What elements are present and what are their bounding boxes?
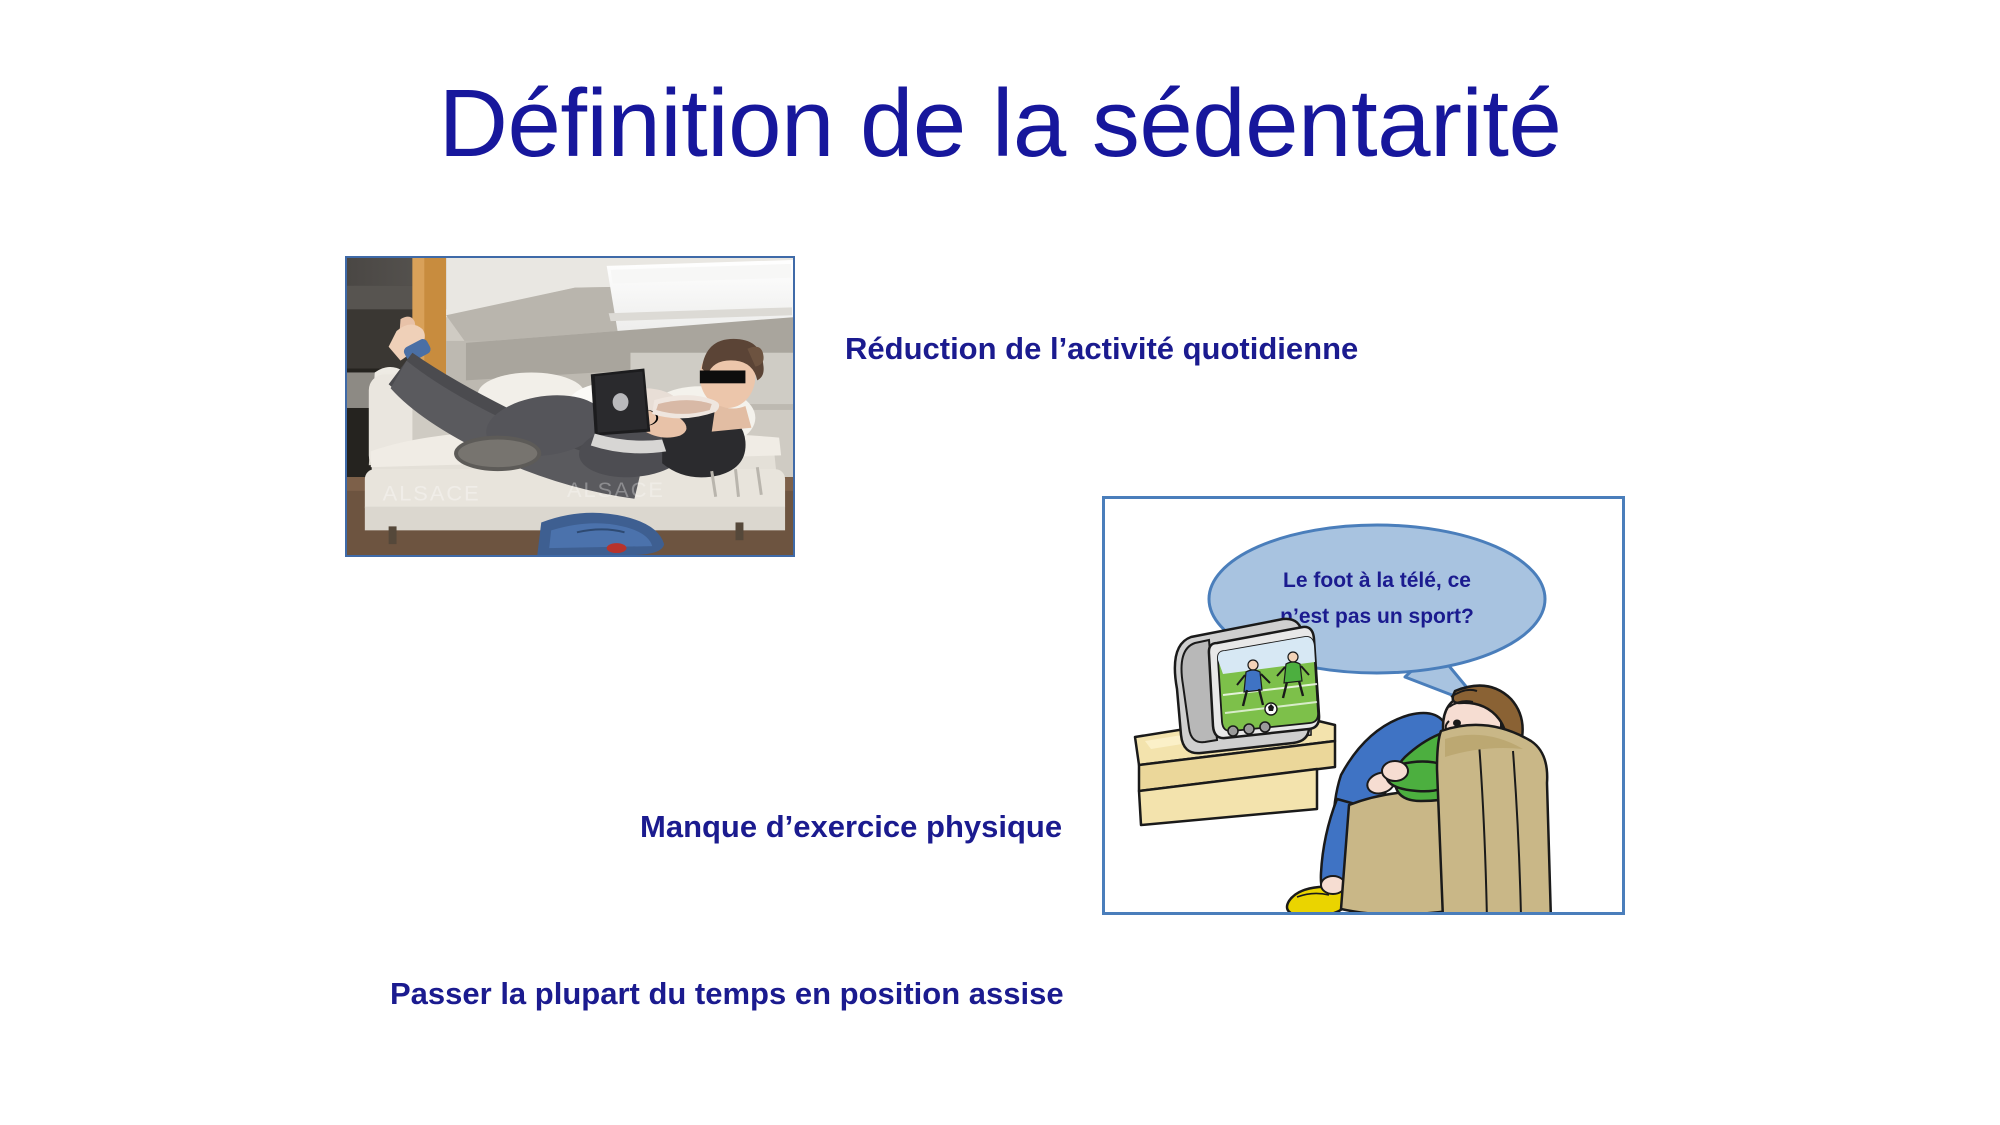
bullet-label-manque-exercice: Manque d’exercice physique (640, 808, 1062, 845)
speech-bubble-line2: n’est pas un sport? (1280, 605, 1474, 628)
television-icon (1175, 619, 1319, 753)
page-title: Définition de la sédentarité (0, 70, 2000, 178)
bullet-label-position-assise: Passer la plupart du temps en position a… (390, 975, 1064, 1012)
cartoon-man-watching-football-on-tv: Le foot à la télé, ce n’est pas un sport… (1102, 496, 1625, 915)
photo-person-lounging-with-laptop: ALSACE ALSACE (345, 256, 795, 557)
man-in-recliner-icon (1287, 686, 1551, 912)
svg-text:ALSACE: ALSACE (383, 481, 481, 506)
slide-canvas: Définition de la sédentarité (0, 0, 2000, 1125)
bullet-label-reduction-activite: Réduction de l’activité quotidienne (845, 330, 1358, 367)
svg-text:ALSACE: ALSACE (567, 477, 665, 502)
speech-bubble-line1: Le foot à la télé, ce (1283, 569, 1471, 592)
